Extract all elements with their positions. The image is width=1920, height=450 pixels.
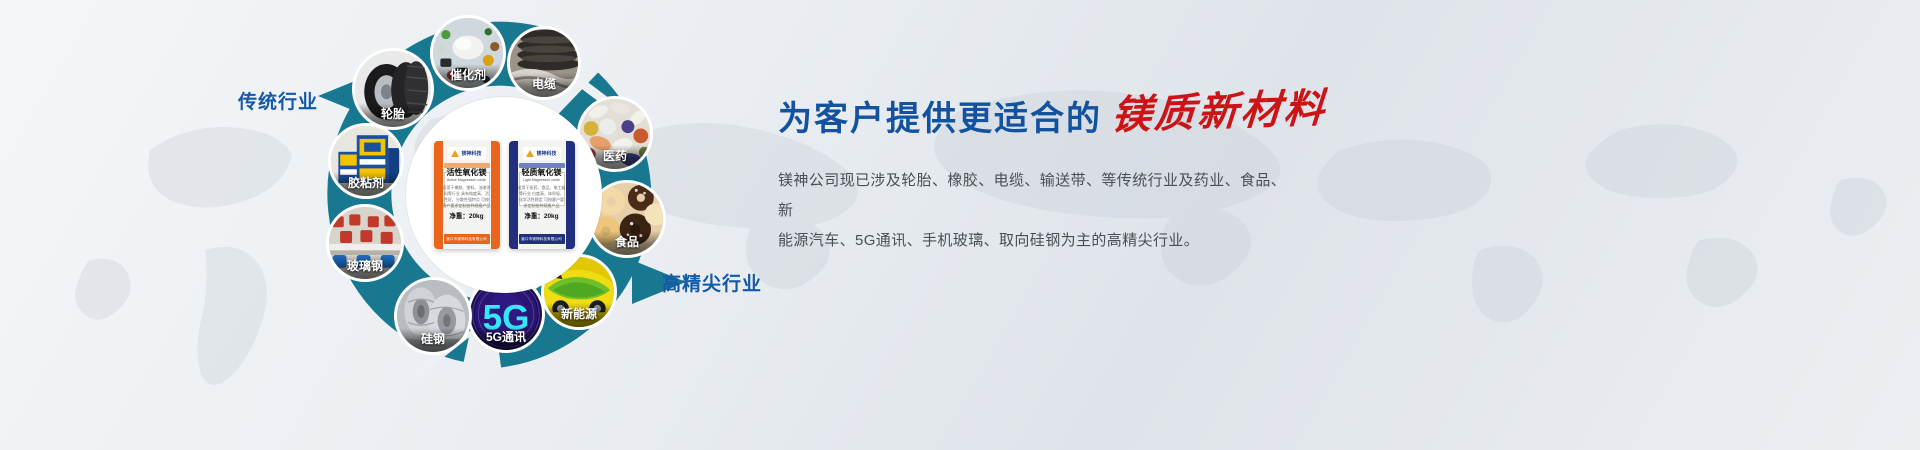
bag-label-panel: 活性氧化镁 Active Magnesium oxide 适用于橡胶、塑料、油漆… [444, 172, 490, 206]
bubble-caption: 食品 [591, 231, 663, 255]
bubble-caption: 硅钢 [397, 328, 469, 352]
headline-red: 镁质新材料 [1110, 89, 1328, 136]
product-name-cn: 活性氧化镁 [447, 169, 487, 177]
logo-triangle-icon [526, 150, 534, 157]
marketing-copy: 为客户提供更适合的 镁质新材料 镁神公司现已涉及轮胎、橡胶、电缆、输送带、等传统… [778, 96, 1498, 256]
headline: 为客户提供更适合的 镁质新材料 [778, 96, 1498, 136]
bubble-caption: 催化剂 [433, 64, 503, 88]
body-line-2: 能源汽车、5G通讯、手机玻璃、取向硅钢为主的高精尖行业。 [778, 226, 1288, 256]
bubble-caption: 5G通讯 [470, 326, 542, 350]
brand-name: 镁神科技 [461, 150, 481, 157]
bubble-caption: 电缆 [510, 73, 578, 97]
bubble-frp[interactable]: 玻璃钢 [326, 204, 404, 282]
bag-edge-left [509, 141, 518, 249]
bubble-tire[interactable]: 轮胎 [352, 48, 434, 130]
brand-logo: 镁神科技 [523, 147, 561, 160]
label-hightech-industries: 高精尖行业 [662, 269, 762, 296]
product-bag-active-mgo[interactable]: 镁神科技 活性氧化镁 Active Magnesium oxide 适用于橡胶、… [434, 141, 500, 249]
product-company: 营口市镁神科技有限公司 [444, 234, 490, 244]
industry-ring-diagram: 传统行业 高精尖行业 轮胎 [0, 0, 800, 450]
body-copy: 镁神公司现已涉及轮胎、橡胶、电缆、输送带、等传统行业及药业、食品、新 能源汽车、… [778, 166, 1288, 256]
bag-label-panel: 轻质氧化镁 Light Magnesium oxide 适用于医药、食品、电工级… [519, 172, 565, 206]
product-core: 镁神科技 活性氧化镁 Active Magnesium oxide 适用于橡胶、… [406, 97, 602, 293]
bubble-adhesive[interactable]: 胶粘剂 [328, 123, 404, 199]
product-name-en: Light Magnesium oxide [523, 179, 560, 183]
product-name-en: Active Magnesium oxide [447, 179, 486, 183]
product-spec: 适用于医药、食品、电工级等行业 白度高、体积轻、化学活性稳定 可按客户要求定制各… [518, 185, 566, 209]
bubble-silicon-steel[interactable]: 硅钢 [394, 277, 472, 355]
bubble-cable[interactable]: 电缆 [507, 26, 581, 100]
body-line-1: 镁神公司现已涉及轮胎、橡胶、电缆、输送带、等传统行业及药业、食品、新 [778, 166, 1288, 226]
product-weight: 净重：20kg [524, 210, 558, 220]
bag-edge-right [566, 141, 575, 249]
product-spec: 适用于橡胶、塑料、油漆涂料等行业 具有纯度高、活性好、分散性强特点 可按客户要求… [443, 185, 491, 209]
bubble-caption: 玻璃钢 [329, 255, 401, 279]
brand-name: 镁神科技 [536, 150, 556, 157]
product-bag-light-mgo[interactable]: 镁神科技 轻质氧化镁 Light Magnesium oxide 适用于医药、食… [509, 141, 575, 249]
headline-blue: 为客户提供更适合的 [778, 102, 1102, 136]
product-company: 营口市镁神科技有限公司 [519, 234, 565, 244]
bag-edge-left [434, 141, 443, 249]
bubble-caption: 新能源 [544, 303, 614, 327]
product-name-cn: 轻质氧化镁 [522, 169, 562, 177]
logo-triangle-icon [451, 150, 459, 157]
bubble-catalyst[interactable]: 催化剂 [430, 15, 506, 91]
label-traditional-industries: 传统行业 [238, 87, 318, 114]
bag-edge-right [491, 141, 500, 249]
bubble-caption: 胶粘剂 [331, 172, 401, 196]
product-weight: 净重：20kg [449, 210, 483, 220]
brand-logo: 镁神科技 [448, 147, 486, 160]
